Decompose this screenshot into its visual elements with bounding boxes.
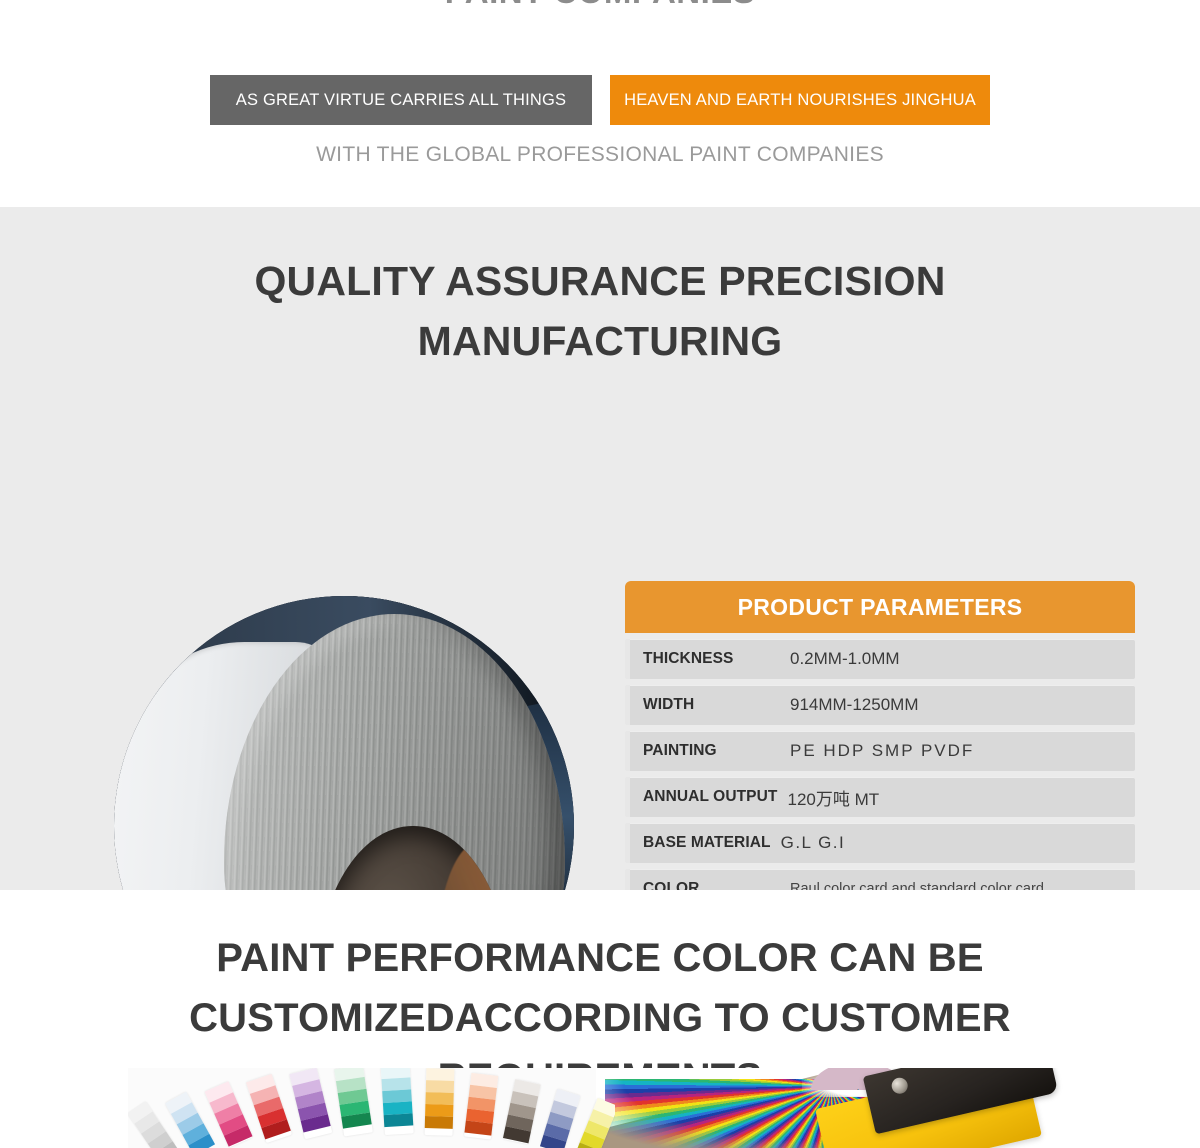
table-row: PAINTING PE HDP SMP PVDF xyxy=(625,731,1135,771)
parameters-table-header: PRODUCT PARAMETERS xyxy=(625,581,1135,633)
param-key: THICKNESS xyxy=(630,650,790,668)
color-swatch-strip xyxy=(541,1088,580,1148)
slogan-pill-virtue[interactable]: AS GREAT VIRTUE CARRIES ALL THINGS xyxy=(210,75,592,125)
param-key: BASE MATERIAL xyxy=(630,834,781,852)
param-value: G.L G.I xyxy=(781,833,846,853)
banner-pill-row: AS GREAT VIRTUE CARRIES ALL THINGS HEAVE… xyxy=(0,75,1200,125)
banner-heading: PAINT COMPANIES xyxy=(0,0,1200,11)
color-swatch-strip xyxy=(290,1068,333,1139)
param-value: 914MM-1250MM xyxy=(790,695,919,715)
color-burst-panels xyxy=(596,1068,1064,1148)
param-value: PE HDP SMP PVDF xyxy=(790,741,974,761)
color-swatch-strip xyxy=(335,1068,374,1137)
color-swatch-strip xyxy=(165,1091,213,1148)
param-value: 0.2MM-1.0MM xyxy=(790,649,900,669)
color-swatch-strip xyxy=(424,1069,454,1136)
param-key: WIDTH xyxy=(630,696,790,714)
quality-assurance-section: QUALITY ASSURANCE PRECISION MANUFACTURIN… xyxy=(0,207,1200,890)
panel-rivet-icon xyxy=(891,1077,910,1096)
banner-subtitle: WITH THE GLOBAL PROFESSIONAL PAINT COMPA… xyxy=(0,143,1200,167)
table-row: BASE MATERIAL G.L G.I xyxy=(625,823,1135,863)
banner-section: PAINT COMPANIES AS GREAT VIRTUE CARRIES … xyxy=(0,0,1200,207)
table-row: ANNUAL OUTPUT 120万吨 MT xyxy=(625,777,1135,817)
color-swatch-strip xyxy=(464,1073,499,1140)
param-value: 120万吨 MT xyxy=(787,785,879,810)
product-detail-page: PAINT COMPANIES AS GREAT VIRTUE CARRIES … xyxy=(0,0,1200,1148)
param-key: PAINTING xyxy=(630,742,790,760)
color-swatch-strip xyxy=(380,1068,413,1135)
swatch-fan-deck xyxy=(128,1068,615,1148)
color-swatch-strip xyxy=(205,1082,253,1148)
color-swatch-strip xyxy=(503,1080,541,1145)
color-card-photo xyxy=(128,1068,1064,1148)
quality-section-title: QUALITY ASSURANCE PRECISION MANUFACTURIN… xyxy=(140,251,1060,371)
color-swatch-strip xyxy=(246,1074,292,1143)
table-row: WIDTH 914MM-1250MM xyxy=(625,685,1135,725)
table-row: THICKNESS 0.2MM-1.0MM xyxy=(625,639,1135,679)
slogan-pill-jinghua[interactable]: HEAVEN AND EARTH NOURISHES JINGHUA xyxy=(610,75,990,125)
param-key: ANNUAL OUTPUT xyxy=(630,788,787,806)
